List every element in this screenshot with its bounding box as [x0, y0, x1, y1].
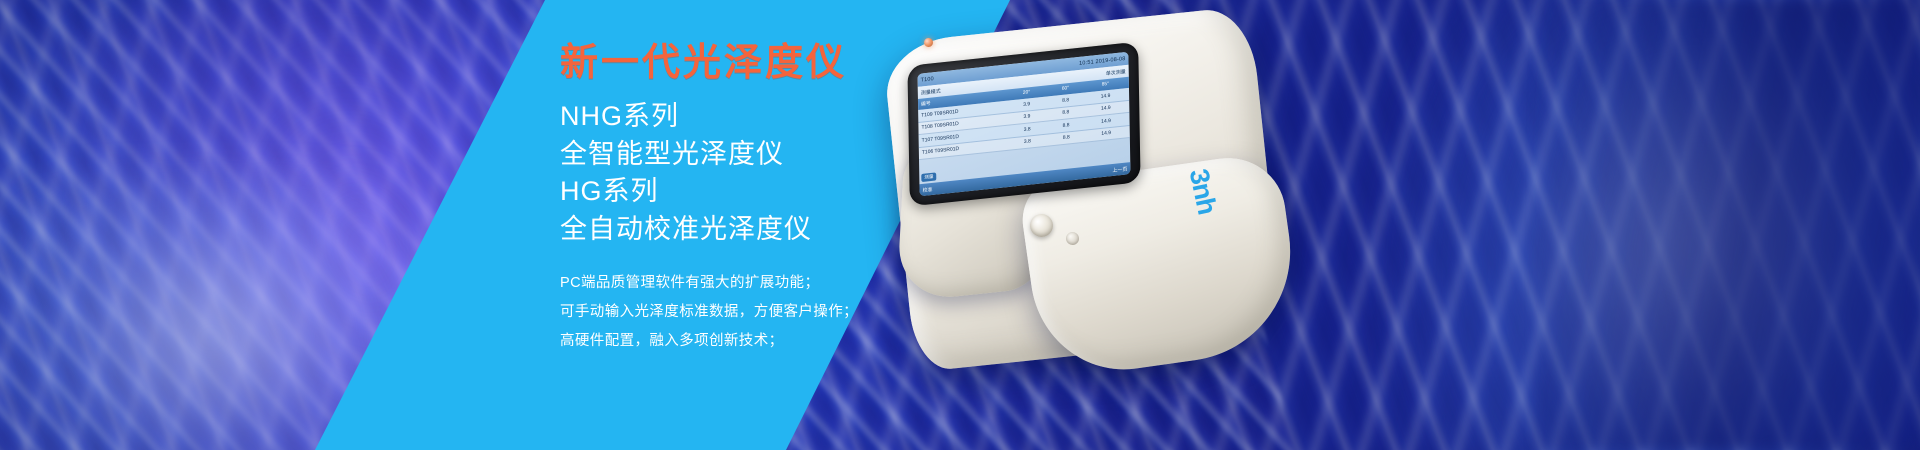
gloss-meter-device: T100 10:51 2019-08-08 测量模式 单次测量 编号 20° 6…	[880, 18, 1300, 390]
device-lcd-screen: T100 10:51 2019-08-08 测量模式 单次测量 编号 20° 6…	[918, 52, 1131, 197]
row-value-20: 3.9	[1007, 112, 1046, 122]
screen-measure-tag: 测量	[921, 172, 936, 182]
screen-mode-value: 单次测量	[1106, 68, 1126, 77]
row-value-60: 8.8	[1046, 108, 1085, 118]
row-value-85: 14.9	[1086, 129, 1127, 139]
screen-footer-right: 上一页	[1112, 165, 1127, 174]
row-value-85: 14.9	[1085, 91, 1126, 101]
row-value-60: 8.8	[1047, 133, 1086, 143]
row-value-60: 8.8	[1047, 120, 1086, 130]
row-value-20: 3.8	[1008, 124, 1047, 134]
row-value-20: 3.8	[1008, 137, 1047, 147]
row-value-85: 14.9	[1085, 103, 1126, 113]
screen-model-label: T100	[921, 76, 934, 83]
screen-footer-left: 校准	[922, 185, 932, 193]
row-value-20: 3.9	[1007, 99, 1046, 109]
screen-mode-label: 测量模式	[921, 87, 941, 96]
device-screen-bezel: T100 10:51 2019-08-08 测量模式 单次测量 编号 20° 6…	[907, 42, 1140, 207]
row-value-60: 8.8	[1046, 95, 1085, 105]
row-value-85: 14.9	[1085, 116, 1126, 126]
product-banner: 新一代光泽度仪 NHG系列 全智能型光泽度仪 HG系列 全自动校准光泽度仪 PC…	[0, 0, 1920, 450]
